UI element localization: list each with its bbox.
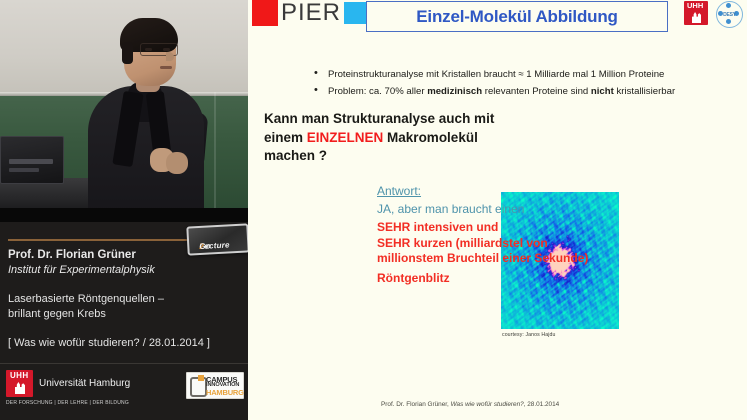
uhh-mark-icon: UHH (6, 370, 33, 397)
uhh-initials: UHH (10, 371, 29, 380)
bullet-emphasis: medizinisch (427, 86, 482, 97)
lecture-player-screen: Lecture2Go Prof. Dr. Florian Grüner Inst… (0, 0, 747, 420)
question-line3: machen ? (264, 148, 327, 163)
answer-line1: JA, aber man braucht einen (377, 200, 627, 218)
uhh-initials: UHH (687, 1, 703, 10)
campus-square-icon (198, 375, 204, 381)
slide-answer-block: Antwort: JA, aber man braucht einen SEHR… (377, 182, 627, 287)
speaker-eye (163, 48, 170, 51)
footer-date: , 28.01.2014 (524, 401, 560, 408)
talk-title: Laserbasierte Röntgenquellen –brillant g… (8, 292, 244, 322)
speaker-info: Prof. Dr. Florian Grüner Institut für Ex… (8, 248, 244, 351)
uhh-name: Universität Hamburg (39, 378, 130, 389)
uhh-logo: UHH Universität Hamburg DER FORSCHUNG | … (6, 370, 33, 397)
pier-logo: PIER (252, 0, 366, 26)
question-line2-post: Makromolekül (383, 130, 478, 145)
desy-wordmark: DESY (723, 12, 736, 18)
speaker-institute: Institut für Experimentalphysik (8, 263, 244, 278)
footer-author: Prof. Dr. Florian Grüner, (381, 401, 451, 408)
speaker-mouth (160, 66, 172, 69)
slide-bullet-list: Proteinstrukturanalyse mit Kristallen br… (272, 66, 747, 100)
hamburg-gate-icon (15, 382, 25, 394)
question-line1: Kann man Strukturanalyse auch mit (264, 111, 494, 126)
laptop (0, 136, 64, 184)
pier-red-square-icon (252, 0, 278, 26)
speaker-nose (166, 52, 174, 61)
campus-line3: HAMBURG (206, 388, 244, 397)
answer-line3b: millionstem Bruchteil einer Sekunde) (377, 251, 627, 266)
left-panel: Lecture2Go Prof. Dr. Florian Grüner Inst… (0, 0, 248, 420)
bullet-text: Proteinstrukturanalyse mit Kristallen br… (328, 69, 664, 80)
speaker-hand (166, 152, 188, 174)
slide-title: Einzel-Molekül Abbildung (416, 7, 617, 27)
laptop-trackpad (9, 168, 39, 172)
speaker-name: Prof. Dr. Florian Grüner (8, 248, 244, 263)
bullet-text: Problem: ca. 70% aller (328, 86, 427, 97)
video-letterbox (0, 208, 248, 222)
uhh-logo-slide: UHH (684, 1, 708, 25)
laptop-keyboard (9, 159, 53, 164)
pier-wordmark: PIER (278, 1, 344, 25)
speaker-eye (145, 48, 152, 51)
answer-line2: SEHR intensiven und (377, 218, 627, 236)
lecture-video[interactable] (0, 0, 248, 222)
answer-line3a: SEHR kurzen (milliardstel von (377, 236, 627, 251)
bullet-item: Proteinstrukturanalyse mit Kristallen br… (312, 66, 747, 83)
question-line2-pre: einem (264, 130, 307, 145)
event-info: [ Was wie wofür studieren? / 28.01.2014 … (8, 336, 244, 351)
image-caption: courtesy: Janos Hajdu (502, 332, 555, 338)
uhh-claim: DER FORSCHUNG | DER LEHRE | DER BILDUNG (6, 400, 129, 406)
slide-panel: PIER Einzel-Molekül Abbildung UHH DESY P… (248, 0, 747, 420)
slide-footer: Prof. Dr. Florian Grüner, Was wie wofür … (381, 401, 559, 408)
bullet-item: Problem: ca. 70% aller medizinisch relev… (312, 83, 747, 100)
bullet-text: kristallisierbar (614, 86, 675, 97)
hamburg-gate-icon (692, 12, 701, 23)
campus-innovation-logo: CAMPUS INNOVATION HAMBURG (186, 372, 244, 399)
pier-blue-square-icon (344, 2, 366, 24)
logo-divider (0, 363, 248, 364)
footer-title: Was wie wofür studieren? (451, 401, 524, 408)
slide-question: Kann man Strukturanalyse auch mit einem … (264, 110, 544, 166)
slide-title-box: Einzel-Molekül Abbildung (366, 1, 668, 32)
answer-heading: Antwort: (377, 182, 627, 200)
speaker-sideburn (122, 42, 133, 64)
bullet-emphasis: nicht (591, 86, 614, 97)
answer-line4: Röntgenblitz (377, 269, 627, 287)
chalkboard-seam (214, 92, 216, 210)
question-highlight: EINZELNEN (307, 130, 384, 145)
bullet-text: relevanten Proteine sind (482, 86, 591, 97)
desy-logo: DESY (716, 1, 743, 28)
